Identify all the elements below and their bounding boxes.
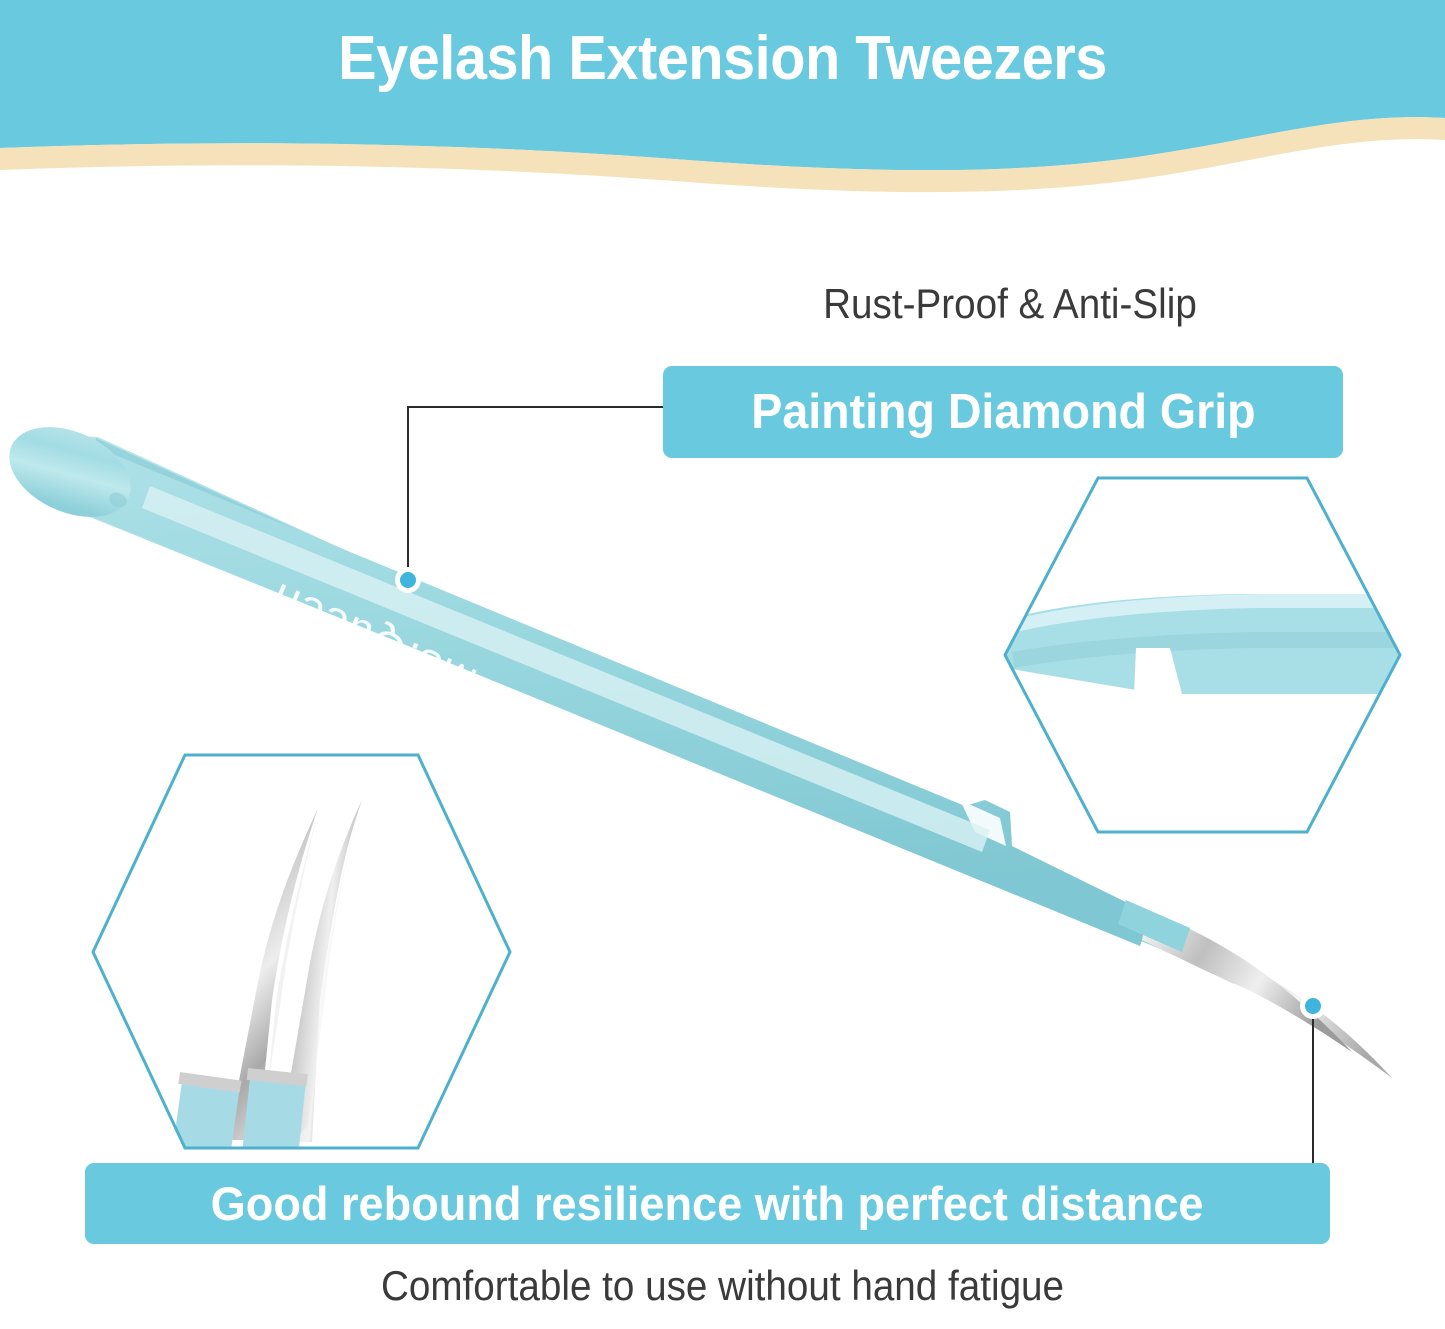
hex-left-tip-a <box>232 808 318 1140</box>
hexagon-right-callout <box>1005 478 1400 832</box>
leader-line-tip-vertical <box>1312 1005 1314 1165</box>
badge-rebound-label: Good rebound resilience with perfect dis… <box>211 1176 1204 1231</box>
callout-dot-tip-icon <box>1300 993 1326 1019</box>
callout-dot-grip-icon <box>395 567 421 593</box>
tweezer-lower-steel-tip <box>1142 912 1352 1052</box>
hex-left-ferrule-b <box>247 1068 308 1086</box>
hex-right-handle-bevel <box>1012 632 1400 668</box>
hex-right-handle <box>1005 594 1400 694</box>
hex-right-handle-highlight <box>1005 594 1400 634</box>
hex-left-sleeve-b <box>242 1078 305 1155</box>
badge-painting-diamond-grip: Painting Diamond Grip <box>663 366 1343 458</box>
tweezer-upper-handle <box>14 434 1175 952</box>
hex-left-tip-a-highlight <box>244 812 318 1142</box>
hexagon-right-frame <box>1005 478 1400 832</box>
badge-grip-label: Painting Diamond Grip <box>751 384 1255 440</box>
leader-line-grip-horizontal <box>407 406 665 408</box>
tweezer-main-body: Ms.Queen <box>0 409 1392 1078</box>
tweezer-grip-notch <box>960 800 1006 846</box>
brand-imprint: Ms.Queen <box>262 573 484 710</box>
hex-right-notch <box>1134 648 1182 694</box>
leader-line-grip-vertical <box>407 407 409 579</box>
tweezer-upper-steel-shank <box>1162 930 1240 984</box>
tweezer-handle-dimple <box>107 490 129 510</box>
badge-good-rebound: Good rebound resilience with perfect dis… <box>85 1163 1330 1244</box>
tweezer-upper-highlight <box>56 443 1150 942</box>
tweezer-upper-steel-tip <box>1196 944 1392 1078</box>
tweezer-handle-head <box>0 409 145 534</box>
hex-left-tip-b <box>278 800 362 1142</box>
tweezer-tip-sleeve-lower <box>1118 900 1190 952</box>
page-title: Eyelash Extension Tweezers <box>51 28 1395 90</box>
hexagon-left-frame <box>93 755 510 1148</box>
hexagon-left-callout <box>93 755 510 1157</box>
tweezer-upper-bevel <box>92 438 1176 949</box>
hex-left-ferrule-a <box>178 1072 241 1093</box>
hex-left-tip-b-highlight <box>292 806 360 1142</box>
tweezer-lower-highlight <box>142 486 990 852</box>
subtitle-rust-proof: Rust-Proof & Anti-Slip <box>725 280 1295 328</box>
footer-comfort-note: Comfortable to use without hand fatigue <box>58 1262 1387 1310</box>
hex-left-sleeve-a <box>173 1082 240 1157</box>
tweezer-lower-handle <box>24 444 1150 946</box>
product-infographic: Eyelash Extension Tweezers <box>0 0 1445 1329</box>
